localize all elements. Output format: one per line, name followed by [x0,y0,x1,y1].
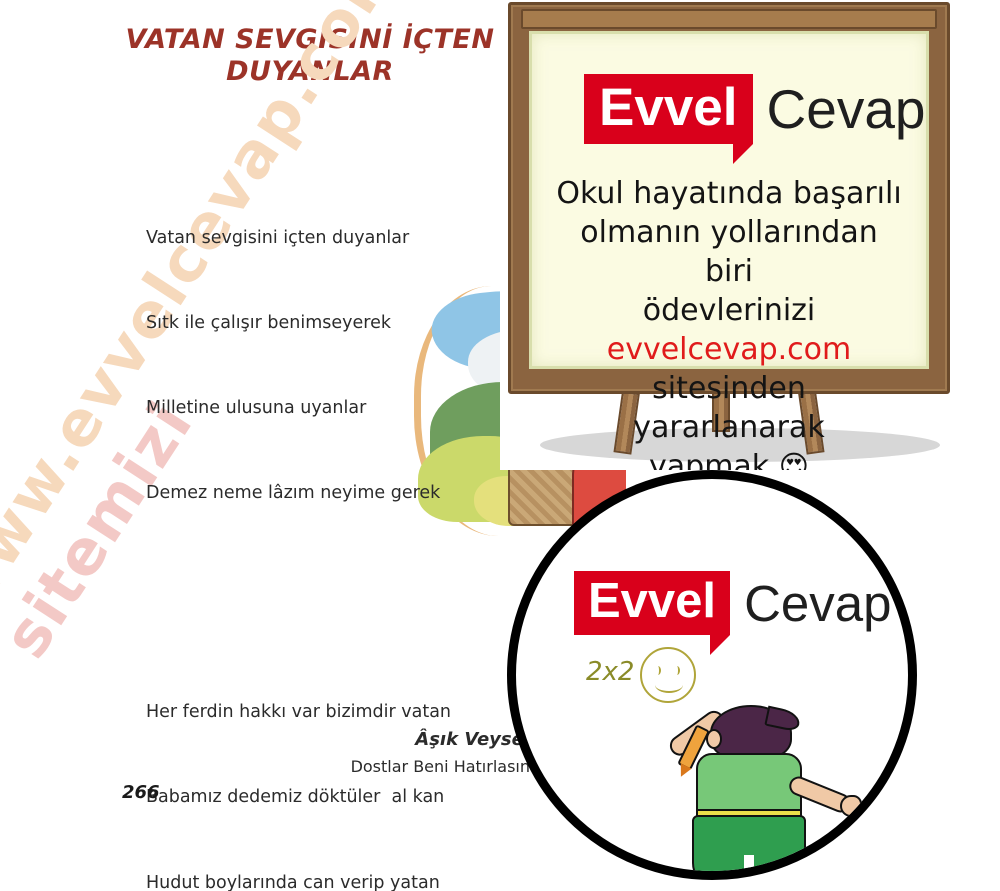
boy-ear [706,729,722,749]
poem-stanza: Vatan sevgisini içten duyanlar Sıtk ile … [146,167,476,565]
logo-word-evvel: Evvel [584,74,753,144]
boy-shirt [696,753,802,815]
poem-line: Sıtk ile çalışır benimseyerek [146,309,476,337]
logo-word-cevap: Cevap [753,82,926,137]
poem-line: Her ferdin hakkı var bizimdir vatan [146,698,476,726]
page-number: 266 [122,782,160,803]
logo-word-evvel: Evvel [574,571,730,635]
evvel-cevap-logo[interactable]: Evvel Cevap [584,74,926,144]
message-line: olmanın yollarından biri [556,213,902,291]
logo-word-cevap: Cevap [730,578,891,629]
poem-line: Hudut boylarında can verip yatan [146,869,476,891]
screenshot-root: VATAN SEVGİSİNİ İÇTEN DUYANLAR www.evvel… [0,0,1000,891]
message-line: yapmak [649,449,769,470]
message-line-with-emoji: yapmak 😍 [556,447,902,470]
whiteboard-message: Okul hayatında başarılı olmanın yolların… [556,174,902,470]
poem-author: Âşık Veysel [300,729,530,750]
poem-line: Demez neme lâzım neyime gerek [146,479,476,507]
whiteboard-surface: Evvel Cevap Okul hayatında başarılı olma… [529,31,929,369]
message-line: ödevlerinizi [556,291,902,330]
message-line: sitesinden yararlanarak [556,369,902,447]
boy-leg-left [702,873,716,880]
boy-hand [840,795,862,817]
evvel-cevap-logo-badge[interactable]: Evvel Cevap [574,571,891,635]
circular-logo-badge: Evvel Cevap 2x2 [507,470,917,880]
heart-eyes-emoji: 😍 [779,449,809,470]
poem-source-work: Dostlar Beni Hatırlasın [250,757,530,776]
boy-drawing-illustration [644,669,854,880]
message-line: Okul hayatında başarılı [556,174,902,213]
website-url-link[interactable]: evvelcevap.com [556,330,902,369]
poem-line: Milletine ulusuna uyanlar [146,394,476,422]
poem-line: Vatan sevgisini içten duyanlar [146,224,476,252]
poem-line: Babamız dedemiz döktüler al kan [146,783,476,811]
page-title: VATAN SEVGİSİNİ İÇTEN DUYANLAR [100,24,520,88]
whiteboard-overlay: Evvel Cevap Okul hayatında başarılı olma… [500,0,1000,470]
whiteboard-frame: Evvel Cevap Okul hayatında başarılı olma… [508,2,950,394]
